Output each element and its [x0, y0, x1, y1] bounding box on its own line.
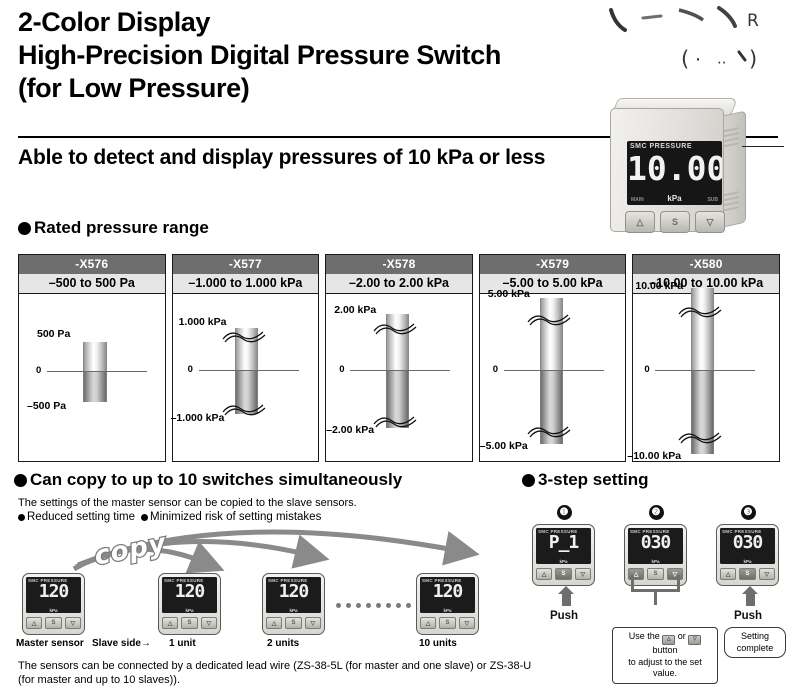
complete-line1: Setting	[729, 631, 781, 643]
sensor-display-value: 120	[266, 582, 321, 602]
sensor-buttons: △ S ▽	[420, 617, 475, 629]
sensor-display-unit: kPa	[720, 559, 775, 564]
sensor-display-unit: kPa	[162, 608, 217, 613]
range-card-x578: -X578 –2.00 to 2.00 kPa 0 2.00 kPa –2.00…	[325, 254, 473, 462]
lower-limit-label: –1.000 kPa	[171, 412, 225, 424]
range-card-model: -X578	[326, 255, 472, 274]
product-lead-wire	[742, 146, 784, 147]
rated-range-heading-label: Rated pressure range	[34, 218, 209, 238]
bar-negative	[83, 372, 107, 402]
range-card-plot: 0 2.00 kPa –2.00 kPa	[326, 294, 472, 461]
zero-axis	[47, 371, 147, 372]
sensor-set-button[interactable]: S	[181, 617, 197, 629]
range-card-model: -X577	[173, 255, 319, 274]
step-3-action: Push	[712, 610, 784, 622]
title-line-1: 2-Color Display	[18, 6, 678, 39]
step-2: ❷ SMC PRESSURE 030 kPa △ S ▽	[620, 505, 692, 586]
sensor-buttons: △ S ▽	[628, 568, 683, 580]
sensor-set-button[interactable]: S	[439, 617, 455, 629]
slave-1-caption: 1 unit	[169, 638, 196, 649]
range-card-x580: -X580 –10.00 to 10.00 kPa 0 10.00 kPa –1…	[632, 254, 780, 462]
product-display: SMC PRESSURE 10.00 kPa MAIN SUB	[627, 141, 722, 205]
slave-side-caption: Slave side→	[92, 638, 151, 649]
sensor-set-button[interactable]: S	[285, 617, 301, 629]
copy-benefit-2: Minimized risk of setting mistakes	[141, 511, 321, 523]
copy-description: The settings of the master sensor can be…	[18, 497, 357, 509]
sensor-buttons: △ S ▽	[720, 568, 775, 580]
benefit-dot-icon	[18, 514, 25, 521]
zero-axis	[199, 370, 299, 371]
bullet-dot-icon	[14, 474, 27, 487]
product-set-button[interactable]: S	[660, 211, 690, 233]
sensor-display: SMC PRESSURE 120 kPa	[420, 577, 475, 613]
sensor-display-value: 030	[720, 533, 775, 553]
sensor-down-button[interactable]: ▽	[305, 617, 321, 629]
svg-text:(: (	[681, 47, 689, 71]
break-mark-lower-icon	[524, 422, 576, 440]
down-button-icon: ▽	[688, 635, 701, 645]
sensor-down-button[interactable]: ▽	[459, 617, 475, 629]
zero-label: 0	[339, 364, 344, 375]
page-title: 2-Color Display High-Precision Digital P…	[18, 6, 678, 105]
break-mark-upper-icon	[675, 302, 727, 320]
sensor-up-button[interactable]: △	[720, 568, 736, 580]
product-tag-left: MAIN	[631, 197, 644, 203]
upper-limit-label: 1.000 kPa	[179, 316, 227, 328]
step-1-number: ❶	[557, 505, 572, 520]
range-card-model: -X576	[19, 255, 165, 274]
svg-text:R: R	[747, 11, 759, 31]
zero-axis	[655, 370, 755, 371]
bar-positive	[540, 298, 563, 371]
step-3-sensor: SMC PRESSURE 030 kPa △ S ▽	[716, 524, 779, 586]
sensor-up-button[interactable]: △	[536, 568, 552, 580]
zero-label: 0	[36, 365, 41, 376]
sensor-display-value: 120	[162, 582, 217, 602]
sensor-buttons: △ S ▽	[536, 568, 591, 580]
product-up-button[interactable]: △	[625, 211, 655, 233]
step-1-action: Push	[528, 610, 600, 622]
complete-line2: complete	[729, 643, 781, 655]
product-buttons: △ S ▽	[625, 211, 725, 233]
zero-axis	[350, 370, 450, 371]
copy-benefit-1: Reduced setting time	[18, 511, 135, 523]
range-card-model: -X579	[480, 255, 626, 274]
upper-limit-label: 500 Pa	[37, 328, 70, 340]
range-card-range: –500 to 500 Pa	[19, 274, 165, 294]
sensor-down-button[interactable]: ▽	[667, 568, 683, 580]
step-3-number: ❸	[741, 505, 756, 520]
adjust-callout-line2: to adjust to the set value.	[617, 657, 713, 680]
title-line-2: High-Precision Digital Pressure Switch	[18, 39, 678, 72]
sensor-set-button[interactable]: S	[647, 568, 663, 580]
bracket-down-stem	[654, 589, 657, 605]
sensor-display: SMC PRESSURE 030 kPa	[628, 528, 683, 564]
lower-limit-label: –2.00 kPa	[326, 424, 374, 436]
rated-range-heading: Rated pressure range	[18, 218, 209, 238]
break-mark-upper-icon	[370, 319, 422, 337]
complete-callout: Setting complete	[724, 627, 786, 658]
break-mark-upper-icon	[524, 310, 576, 328]
svg-text:·: ·	[695, 49, 701, 71]
step-1: ❶ SMC PRESSURE P_1 kPa △ S ▽ Push	[528, 505, 600, 622]
range-card-plot: 0 10.00 kPa –10.00 kPa	[633, 294, 779, 461]
sensor-display-value: 120	[26, 582, 81, 602]
slave-sensor-1: SMC PRESSURE 120 kPa △ S ▽	[158, 573, 221, 635]
product-front-face: SMC PRESSURE 10.00 kPa MAIN SUB △ S ▽	[610, 108, 724, 232]
rated-range-cards: -X576 –500 to 500 Pa 0 500 Pa –500 Pa -X…	[18, 254, 780, 462]
sensor-down-button[interactable]: ▽	[201, 617, 217, 629]
sensor-display-value: 120	[420, 582, 475, 602]
sensor-buttons: △ S ▽	[266, 617, 321, 629]
zero-label: 0	[188, 364, 193, 375]
zero-axis	[504, 370, 604, 371]
sensor-display: SMC PRESSURE 120 kPa	[266, 577, 321, 613]
lower-limit-label: –10.00 kPa	[627, 450, 681, 462]
product-display-value: 10.00	[627, 151, 722, 187]
sensor-display: SMC PRESSURE 030 kPa	[720, 528, 775, 564]
bar-positive	[83, 342, 107, 372]
copy-section-note: The sensors can be connected by a dedica…	[18, 659, 538, 687]
step-3: ❸ SMC PRESSURE 030 kPa △ S ▽ Push	[712, 505, 784, 622]
svg-text:): )	[749, 47, 757, 71]
product-tag-right: SUB	[707, 197, 718, 203]
range-card-x576: -X576 –500 to 500 Pa 0 500 Pa –500 Pa	[18, 254, 166, 462]
zero-label: 0	[644, 364, 649, 375]
copy-section-heading: Can copy to up to 10 switches simultaneo…	[14, 470, 402, 490]
sensor-buttons: △ S ▽	[26, 617, 81, 629]
range-card-range: –1.000 to 1.000 kPa	[173, 274, 319, 294]
slave-10-caption: 10 units	[419, 638, 457, 649]
sensor-display-value: 030	[628, 533, 683, 553]
sensor-down-button[interactable]: ▽	[65, 617, 81, 629]
subtitle: Able to detect and display pressures of …	[18, 144, 598, 171]
break-mark-lower-icon	[675, 428, 727, 446]
sensor-display-value: P_1	[536, 533, 591, 553]
step-section-heading: 3-step setting	[522, 470, 649, 490]
sensor-up-button[interactable]: △	[266, 617, 282, 629]
bar-positive	[691, 288, 714, 371]
upper-limit-label: 5.00 kPa	[488, 288, 530, 300]
step-diagram: ❶ SMC PRESSURE P_1 kPa △ S ▽ Push ❷	[528, 505, 790, 655]
range-card-plot: 0 5.00 kPa –5.00 kPa	[480, 294, 626, 461]
copy-benefits: Reduced setting time Minimized risk of s…	[18, 511, 321, 523]
range-card-range: –2.00 to 2.00 kPa	[326, 274, 472, 294]
sensor-up-button[interactable]: △	[420, 617, 436, 629]
datasheet-page: R ( · ·· ) 2-Color Display High-Precisio…	[0, 0, 797, 692]
copy-diagram: copy SMC PRESSURE 120 kPa △ S ▽ Master s…	[14, 525, 514, 660]
sensor-display-unit: kPa	[628, 559, 683, 564]
sensor-set-button[interactable]: S	[555, 568, 571, 580]
svg-text:··: ··	[717, 54, 727, 72]
step-1-sensor: SMC PRESSURE P_1 kPa △ S ▽	[532, 524, 595, 586]
range-card-model: -X580	[633, 255, 779, 274]
break-mark-lower-icon	[370, 412, 422, 430]
range-card-plot: 0 1.000 kPa –1.000 kPa	[173, 294, 319, 461]
lower-limit-label: –5.00 kPa	[480, 440, 528, 452]
slave-sensor-10: SMC PRESSURE 120 kPa △ S ▽	[416, 573, 479, 635]
break-mark-lower-icon	[219, 400, 271, 418]
sensor-down-button[interactable]: ▽	[759, 568, 775, 580]
step-1-arrow-icon	[562, 593, 571, 606]
adjust-callout: Use the △ or ▽ button to adjust to the s…	[612, 627, 718, 684]
break-mark-upper-icon	[219, 327, 271, 345]
slave-2-caption: 2 units	[267, 638, 299, 649]
upper-limit-label: 10.00 kPa	[635, 280, 683, 292]
sensor-display: SMC PRESSURE P_1 kPa	[536, 528, 591, 564]
sensor-display-unit: kPa	[26, 608, 81, 613]
sensor-display-unit: kPa	[536, 559, 591, 564]
upper-limit-label: 2.00 kPa	[334, 304, 376, 316]
step-3-arrow-icon	[746, 593, 755, 606]
sensor-display: SMC PRESSURE 120 kPa	[26, 577, 81, 613]
bullet-dot-icon	[18, 222, 31, 235]
sensor-set-button[interactable]: S	[45, 617, 61, 629]
master-sensor: SMC PRESSURE 120 kPa △ S ▽	[22, 573, 85, 635]
sensor-up-button[interactable]: △	[162, 617, 178, 629]
sensor-up-button[interactable]: △	[26, 617, 42, 629]
step-heading-label: 3-step setting	[538, 470, 649, 490]
sensor-set-button[interactable]: S	[739, 568, 755, 580]
sensor-down-button[interactable]: ▽	[575, 568, 591, 580]
title-line-3: (for Low Pressure)	[18, 72, 678, 105]
step-2-number: ❷	[649, 505, 664, 520]
slave-sensor-2: SMC PRESSURE 120 kPa △ S ▽	[262, 573, 325, 635]
range-card-plot: 0 500 Pa –500 Pa	[19, 294, 165, 461]
sensor-buttons: △ S ▽	[162, 617, 217, 629]
sensor-display-unit: kPa	[266, 608, 321, 613]
copy-heading-label: Can copy to up to 10 switches simultaneo…	[30, 470, 402, 490]
range-card-x577: -X577 –1.000 to 1.000 kPa 0 1.000 kPa –1…	[172, 254, 320, 462]
product-down-button[interactable]: ▽	[695, 211, 725, 233]
zero-label: 0	[493, 364, 498, 375]
bullet-dot-icon	[522, 474, 535, 487]
up-button-icon: △	[662, 635, 675, 645]
range-card-x579: -X579 –5.00 to 5.00 kPa 0 5.00 kPa –5.00…	[479, 254, 627, 462]
benefit-dot-icon	[141, 514, 148, 521]
lower-limit-label: –500 Pa	[27, 400, 66, 412]
sensor-display-unit: kPa	[420, 608, 475, 613]
ellipsis-dots	[336, 603, 421, 608]
product-photo: SMC PRESSURE 10.00 kPa MAIN SUB △ S ▽	[602, 88, 752, 236]
master-sensor-caption: Master sensor	[16, 638, 84, 649]
sensor-display: SMC PRESSURE 120 kPa	[162, 577, 217, 613]
